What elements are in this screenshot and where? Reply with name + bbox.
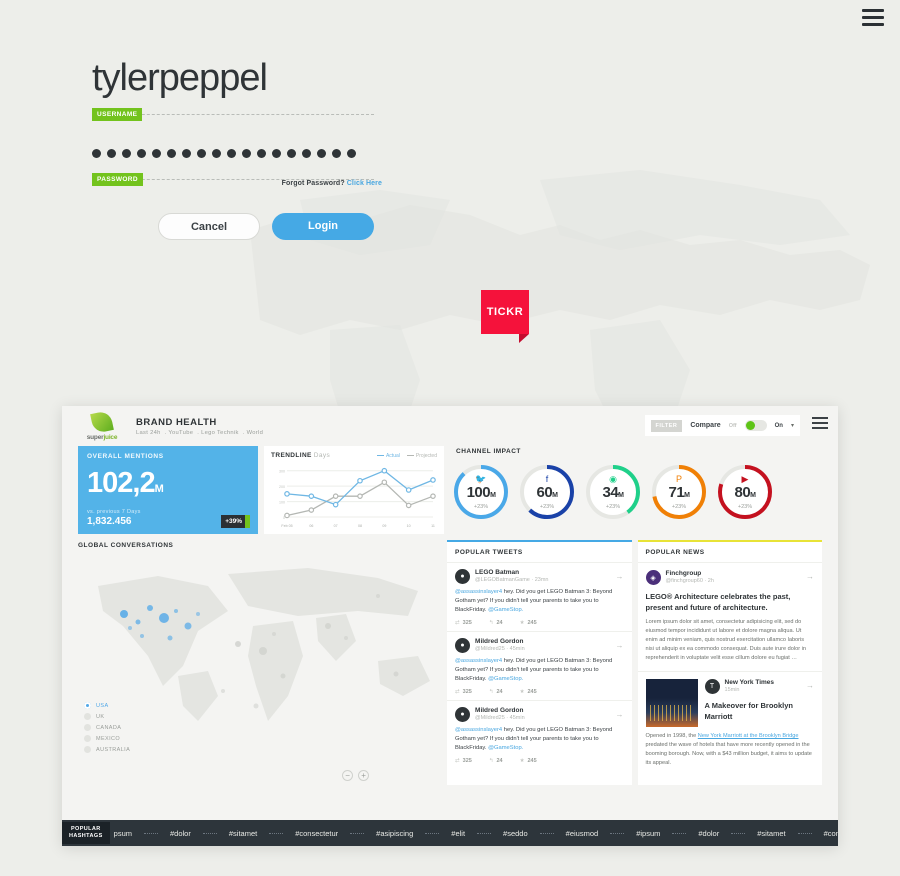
compare-on-label: On <box>775 423 783 429</box>
donut-content: 🐦 100M +23% <box>450 461 512 523</box>
hashtag-separator <box>350 833 364 834</box>
tweet-list: ● LEGO Batman @LEGOBatmanGame · 23mn → @… <box>447 562 631 769</box>
hashtag-item[interactable]: #dolor <box>698 829 719 838</box>
hashtag-item[interactable]: #asipiscing <box>376 829 413 838</box>
svg-text:11: 11 <box>431 524 435 528</box>
donut-content: P 71M +23% <box>648 461 710 523</box>
hashtag-separator <box>731 833 745 834</box>
donut-delta: +23% <box>672 504 686 510</box>
star-icon: ★ <box>520 620 525 626</box>
breadcrumb-item[interactable]: YouTube <box>168 430 193 436</box>
overall-mentions-card: OVERALL MENTIONS 102,2M vs. previous 7 D… <box>78 446 258 534</box>
hashtag-item[interactable]: #consectetur <box>824 829 838 838</box>
hashtag-item[interactable]: #sitamet <box>757 829 785 838</box>
donut-content: ▶ 80M +23% <box>714 461 776 523</box>
news-meta: 15min <box>725 687 775 693</box>
dashboard-header: superjuice BRAND HEALTH Last 24h. YouTub… <box>62 406 838 446</box>
tweet-author-block: LEGO Batman @LEGOBatmanGame · 23mn <box>475 569 548 583</box>
forgot-password-label: Forgot Password? <box>282 180 345 187</box>
tweet-link[interactable]: @GameStop. <box>488 676 523 682</box>
channel-impact-header: CHANNEL IMPACT <box>450 446 822 455</box>
legend-swatch <box>377 455 384 456</box>
tweet-handle: @LEGOBatmanGame · 23mn <box>475 577 548 583</box>
breadcrumb: Last 24h. YouTube. Lego Technik. World <box>136 430 267 436</box>
channel-impact-card: CHANNEL IMPACT 🐦 100M +23% f 60M +23% ◉ … <box>450 446 822 534</box>
svg-text:200: 200 <box>279 485 285 489</box>
channel-donut-facebook[interactable]: f 60M +23% <box>516 461 578 523</box>
tickr-logo: TICKR <box>481 290 529 334</box>
tweet-header: ● Mildred Gordon @Mildred25 · 45min <box>455 707 623 722</box>
tweet-handle: @Mildred25 · 45min <box>475 715 525 721</box>
tweet-author: Mildred Gordon <box>475 707 525 714</box>
delta-value: +39% <box>225 518 242 525</box>
popular-news-header: POPULAR NEWS <box>638 542 822 562</box>
hashtag-item[interactable]: #ipsum <box>636 829 660 838</box>
tweet-body: @assassinslayer4 hey. Did you get LEGO B… <box>455 657 623 684</box>
news-item[interactable]: ◈ Finchgroup @finchgroup60 · 2h LEGO® Ar… <box>638 562 822 671</box>
reply-count[interactable]: ↰24 <box>489 689 503 695</box>
popular-news-card: POPULAR NEWS ◈ Finchgroup @finchgroup60 … <box>638 540 822 785</box>
reply-count[interactable]: ↰24 <box>489 620 503 626</box>
breadcrumb-item[interactable]: World <box>247 430 264 436</box>
trendline-chart: 0100200300Feb 05060708091011 <box>271 459 437 529</box>
news-title: LEGO® Architecture celebrates the past, … <box>646 591 814 613</box>
username-label: USERNAME <box>92 108 142 121</box>
login-actions: Cancel Login <box>92 213 382 240</box>
map-zoom-controls: − + <box>342 770 369 781</box>
news-thumbnail <box>646 679 698 727</box>
like-count[interactable]: ★245 <box>520 689 537 695</box>
tweet-item[interactable]: ● LEGO Batman @LEGOBatmanGame · 23mn → @… <box>447 562 631 631</box>
global-conversations-header: GLOBAL CONVERSATIONS <box>78 540 441 549</box>
leaf-icon <box>90 410 114 434</box>
tweet-item[interactable]: ● Mildred Gordon @Mildred25 · 45min → @a… <box>447 700 631 769</box>
like-count[interactable]: ★245 <box>520 758 537 764</box>
news-inline-link[interactable]: New York Marriott at the Brooklyn Bridge <box>698 733 799 739</box>
country-label: USA <box>96 703 109 709</box>
avatar: ● <box>455 638 470 653</box>
country-dot-icon <box>84 735 91 742</box>
tweet-author: Mildred Gordon <box>475 638 525 645</box>
news-list: ◈ Finchgroup @finchgroup60 · 2h LEGO® Ar… <box>638 562 822 776</box>
dashboard-menu-button[interactable] <box>812 417 828 429</box>
legend-projected[interactable]: Projected <box>407 453 437 459</box>
tweet-author-block: Mildred Gordon @Mildred25 · 45min <box>475 707 525 721</box>
facebook-icon: f <box>546 475 549 484</box>
hashtag-item[interactable]: #eiusmod <box>566 829 599 838</box>
arrow-up-icon <box>245 515 250 528</box>
channel-donut-instagram[interactable]: ◉ 34M +23% <box>582 461 644 523</box>
password-dot <box>227 149 236 158</box>
hamburger-bar <box>812 417 828 419</box>
donut-value: 80M <box>734 485 755 503</box>
password-dot <box>167 149 176 158</box>
popular-hashtags-bar: POPULAR HASHTAGS psum#dolor#sitamet#cons… <box>62 820 838 846</box>
tweet-mention-link[interactable]: @assassinslayer4 <box>455 658 502 664</box>
avatar: T <box>705 679 720 694</box>
donut-value: 60M <box>536 485 557 503</box>
donut-value: 71M <box>668 485 689 503</box>
svg-text:06: 06 <box>309 524 313 528</box>
chevron-down-icon[interactable]: ▾ <box>791 422 794 429</box>
channel-donut-list: 🐦 100M +23% f 60M +23% ◉ 34M +23% P <box>450 461 822 523</box>
password-dot <box>347 149 356 158</box>
country-label: CANADA <box>96 725 121 731</box>
news-source-block: T New York Times 15min A Makeover for Br… <box>705 679 814 727</box>
svg-text:10: 10 <box>407 524 411 528</box>
hashtag-separator <box>203 833 217 834</box>
news-body: Opened in 1998, the New York Marriott at… <box>646 732 814 768</box>
country-dot-icon <box>84 702 91 709</box>
password-dot <box>212 149 221 158</box>
login-button[interactable]: Login <box>272 213 374 240</box>
channel-donut-youtube[interactable]: ▶ 80M +23% <box>714 461 776 523</box>
retweet-icon: ⇄ <box>455 758 460 764</box>
conversations-map[interactable] <box>78 556 444 756</box>
country-legend-item[interactable]: UK <box>84 713 130 720</box>
password-dot <box>242 149 251 158</box>
compare-off-label: Off <box>729 423 737 429</box>
password-dot <box>302 149 311 158</box>
hashtag-item[interactable]: #seddo <box>503 829 528 838</box>
password-input[interactable] <box>92 149 382 158</box>
hashtag-separator <box>144 833 158 834</box>
news-source-text: New York Times 15min <box>725 679 775 693</box>
country-label: AUSTRALIA <box>96 747 130 753</box>
password-dot <box>182 149 191 158</box>
like-count[interactable]: ★245 <box>520 620 537 626</box>
main-menu-button[interactable] <box>862 9 884 26</box>
dashboard-toolbar: FILTER Compare Off On ▾ <box>645 415 801 436</box>
tweet-link[interactable]: @GameStop. <box>488 607 523 613</box>
donut-value: 34M <box>602 485 623 503</box>
hashtag-separator <box>269 833 283 834</box>
tickr-logo-text: TICKR <box>487 306 524 318</box>
donut-delta: +23% <box>474 504 488 510</box>
hashtag-item[interactable]: #elit <box>451 829 465 838</box>
popular-tweets-card: POPULAR TWEETS ● LEGO Batman @LEGOBatman… <box>447 540 631 785</box>
reply-icon: ↰ <box>489 620 494 626</box>
dashboard-panel: superjuice BRAND HEALTH Last 24h. YouTub… <box>62 406 838 846</box>
retweet-icon: ⇄ <box>455 620 460 626</box>
password-dot <box>137 149 146 158</box>
country-legend-item[interactable]: USA <box>84 702 130 709</box>
reply-icon: ↰ <box>489 758 494 764</box>
hashtag-separator <box>672 833 686 834</box>
mentions-number: 102,2 <box>87 467 155 499</box>
news-header: ◈ Finchgroup @finchgroup60 · 2h <box>646 570 814 585</box>
hashtag-item[interactable]: psum <box>114 829 132 838</box>
mentions-delta-badge: +39% <box>221 515 250 528</box>
zoom-in-button[interactable]: + <box>358 770 369 781</box>
open-news-icon[interactable]: → <box>806 681 814 690</box>
trendline-header-row: TRENDLINEDays Actual Projected <box>271 452 437 459</box>
hamburger-bar <box>862 16 884 19</box>
news-header: T New York Times 15min A Makeover for Br… <box>646 679 814 727</box>
country-dot-icon <box>84 713 91 720</box>
retweet-count[interactable]: ⇄325 <box>455 689 472 695</box>
donut-content: ◉ 34M +23% <box>582 461 644 523</box>
tweet-author-block: Mildred Gordon @Mildred25 · 45min <box>475 638 525 652</box>
content-row: GLOBAL CONVERSATIONS <box>62 534 838 785</box>
svg-text:09: 09 <box>382 524 386 528</box>
country-legend-item[interactable]: AUSTRALIA <box>84 746 130 753</box>
svg-text:Feb 05: Feb 05 <box>281 524 292 528</box>
forgot-password-link[interactable]: Click Here <box>347 180 382 187</box>
svg-text:07: 07 <box>334 524 338 528</box>
page-title: BRAND HEALTH <box>136 417 267 428</box>
password-dot <box>332 149 341 158</box>
news-item[interactable]: T New York Times 15min A Makeover for Br… <box>638 671 822 776</box>
popular-tweets-header: POPULAR TWEETS <box>447 542 631 562</box>
username-input[interactable]: tylerpeppel <box>92 56 382 100</box>
pinterest-icon: P <box>676 475 682 484</box>
hashtags-label-line1: POPULAR <box>69 826 103 833</box>
logo-text-juice: juice <box>103 434 117 441</box>
trendline-subtitle: Days <box>314 452 330 459</box>
trendline-card: TRENDLINEDays Actual Projected 010020030… <box>264 446 444 534</box>
superjuice-logo: superjuice <box>78 412 126 441</box>
mentions-compare-value: 1,832.456 <box>87 516 141 527</box>
country-dot-icon <box>84 746 91 753</box>
hashtag-item[interactable]: #sitamet <box>229 829 257 838</box>
open-tweet-icon[interactable]: → <box>616 572 624 581</box>
global-conversations-card: GLOBAL CONVERSATIONS <box>78 540 441 785</box>
news-source: New York Times <box>725 679 775 686</box>
reply-count[interactable]: ↰24 <box>489 758 503 764</box>
svg-text:08: 08 <box>358 524 362 528</box>
password-dot <box>257 149 266 158</box>
compare-label: Compare <box>690 422 720 429</box>
password-dot <box>287 149 296 158</box>
retweet-count[interactable]: ⇄325 <box>455 758 472 764</box>
password-label: PASSWORD <box>92 173 143 186</box>
hashtag-separator <box>425 833 439 834</box>
avatar: ● <box>455 569 470 584</box>
hamburger-bar <box>862 23 884 26</box>
donut-value: 100M <box>467 485 496 503</box>
toggle-knob <box>746 421 755 430</box>
tweet-body: @assassinslayer4 hey. Did you get LEGO B… <box>455 588 623 615</box>
country-label: MEXICO <box>96 736 120 742</box>
open-tweet-icon[interactable]: → <box>616 710 624 719</box>
password-dot <box>107 149 116 158</box>
mentions-comparison: vs. previous 7 Days 1,832.456 <box>87 509 141 527</box>
hamburger-bar <box>862 9 884 12</box>
tweet-handle: @Mildred25 · 45min <box>475 646 525 652</box>
hashtag-separator <box>610 833 624 834</box>
password-dot <box>152 149 161 158</box>
overall-mentions-header: OVERALL MENTIONS <box>87 453 249 460</box>
login-form: tylerpeppel USERNAME PASSWORD Forgot Pas… <box>92 56 382 240</box>
password-field-row: PASSWORD Forgot Password? Click Here <box>92 179 382 180</box>
tweet-stats: ⇄325 ↰24 ★245 <box>455 758 623 764</box>
news-meta: @finchgroup60 · 2h <box>666 578 714 584</box>
donut-content: f 60M +23% <box>516 461 578 523</box>
password-dot <box>92 149 101 158</box>
donut-delta: +23% <box>738 504 752 510</box>
star-icon: ★ <box>520 689 525 695</box>
mentions-unit: M <box>155 483 163 495</box>
hamburger-bar <box>812 422 828 424</box>
forgot-password: Forgot Password? Click Here <box>282 180 382 187</box>
cancel-button[interactable]: Cancel <box>158 213 260 240</box>
password-dot <box>317 149 326 158</box>
tweet-stats: ⇄325 ↰24 ★245 <box>455 689 623 695</box>
retweet-icon: ⇄ <box>455 689 460 695</box>
hamburger-bar <box>812 427 828 429</box>
filter-button[interactable]: FILTER <box>651 420 683 432</box>
youtube-icon: ▶ <box>742 475 749 484</box>
tweet-stats: ⇄325 ↰24 ★245 <box>455 620 623 626</box>
hashtags-label-line2: HASHTAGS <box>69 833 103 840</box>
breadcrumb-item[interactable]: Last 24h <box>136 430 161 436</box>
donut-delta: +23% <box>606 504 620 510</box>
hashtag-item[interactable]: #consectetur <box>295 829 338 838</box>
avatar: ◈ <box>646 570 661 585</box>
news-title: A Makeover for Brooklyn Marriott <box>705 700 814 722</box>
dashboard-title-block: BRAND HEALTH Last 24h. YouTube. Lego Tec… <box>136 417 267 436</box>
open-news-icon[interactable]: → <box>806 572 814 581</box>
tweet-body: @assassinslayer4 hey. Did you get LEGO B… <box>455 726 623 753</box>
username-field-underline: USERNAME <box>92 114 374 115</box>
kpi-row: OVERALL MENTIONS 102,2M vs. previous 7 D… <box>62 446 838 534</box>
password-dot <box>197 149 206 158</box>
mentions-compare-label: vs. previous 7 Days <box>87 509 141 515</box>
tweet-link[interactable]: @GameStop. <box>488 745 523 751</box>
country-legend: USAUKCANADAMEXICOAUSTRALIA <box>84 702 130 757</box>
password-dot <box>272 149 281 158</box>
retweet-count[interactable]: ⇄325 <box>455 620 472 626</box>
logo-text-super: super <box>87 434 104 441</box>
svg-text:300: 300 <box>279 470 285 474</box>
trendline-title: TRENDLINE <box>271 452 312 459</box>
svg-text:100: 100 <box>279 501 285 505</box>
donut-delta: +23% <box>540 504 554 510</box>
hashtag-separator <box>477 833 491 834</box>
trendline-header: TRENDLINEDays <box>271 452 330 459</box>
legend-swatch <box>407 455 414 456</box>
tweet-header: ● LEGO Batman @LEGOBatmanGame · 23mn <box>455 569 623 584</box>
channel-donut-twitter[interactable]: 🐦 100M +23% <box>450 461 512 523</box>
channel-donut-pinterest[interactable]: P 71M +23% <box>648 461 710 523</box>
country-legend-item[interactable]: MEXICO <box>84 735 130 742</box>
tweet-mention-link[interactable]: @assassinslayer4 <box>455 727 502 733</box>
hashtag-item[interactable]: #dolor <box>170 829 191 838</box>
tweet-author: LEGO Batman <box>475 569 548 576</box>
twitter-icon: 🐦 <box>475 475 486 484</box>
trendline-legend: Actual Projected <box>377 453 437 459</box>
password-dot <box>122 149 131 158</box>
news-source-text: Finchgroup @finchgroup60 · 2h <box>666 570 714 584</box>
reply-icon: ↰ <box>489 689 494 695</box>
avatar: ● <box>455 707 470 722</box>
instagram-icon: ◉ <box>609 475 617 484</box>
open-tweet-icon[interactable]: → <box>616 641 624 650</box>
tweet-mention-link[interactable]: @assassinslayer4 <box>455 589 502 595</box>
news-source: Finchgroup <box>666 570 714 577</box>
star-icon: ★ <box>520 758 525 764</box>
breadcrumb-item[interactable]: Lego Technik <box>201 430 239 436</box>
tweet-item[interactable]: ● Mildred Gordon @Mildred25 · 45min → @a… <box>447 631 631 700</box>
news-body: Lorem ipsum dolor sit amet, consectetur … <box>646 618 814 663</box>
hashtag-items: psum#dolor#sitamet#consectetur#asipiscin… <box>102 829 838 838</box>
country-label: UK <box>96 714 104 720</box>
legend-actual[interactable]: Actual <box>377 453 400 459</box>
superjuice-logo-text: superjuice <box>87 434 118 441</box>
overall-mentions-value: 102,2M <box>87 468 249 504</box>
hashtag-separator <box>540 833 554 834</box>
zoom-out-button[interactable]: − <box>342 770 353 781</box>
country-legend-item[interactable]: CANADA <box>84 724 130 731</box>
hashtag-separator <box>798 833 812 834</box>
compare-toggle[interactable] <box>745 420 767 431</box>
country-dot-icon <box>84 724 91 731</box>
news-source-row: T New York Times 15min <box>705 679 814 694</box>
tweet-header: ● Mildred Gordon @Mildred25 · 45min <box>455 638 623 653</box>
